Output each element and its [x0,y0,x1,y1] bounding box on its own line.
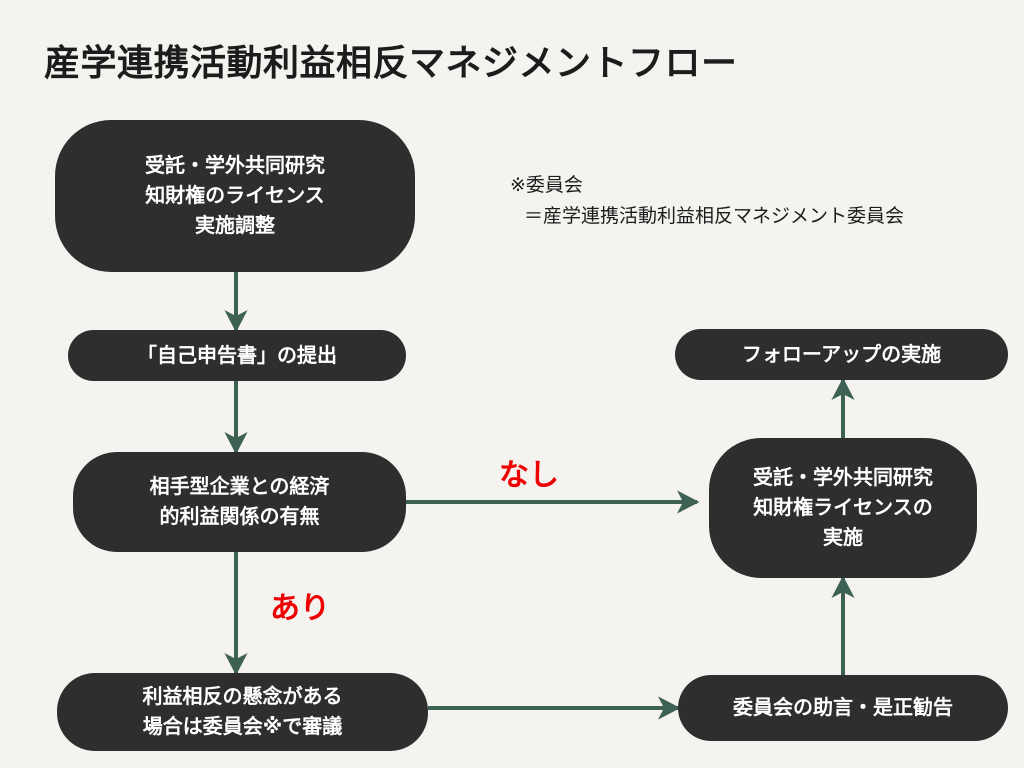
node-implement-line-3: 実施 [753,523,933,553]
arrow-layer [0,0,1024,768]
node-intake[interactable]: 受託・学外共同研究 知財権のライセンス 実施調整 [55,120,415,272]
node-decision-line-2: 的利益関係の有無 [150,502,330,532]
page-title: 産学連携活動利益相反マネジメントフロー [44,34,738,86]
node-self-report[interactable]: 「自己申告書」の提出 [68,330,406,381]
node-followup-line-1: フォローアップの実施 [742,340,941,370]
committee-note-line-2: ＝産学連携活動利益相反マネジメント委員会 [510,201,904,232]
node-intake-line-3: 実施調整 [145,211,325,241]
node-decision[interactable]: 相手型企業との経済 的利益関係の有無 [73,452,406,552]
node-implement-line-2: 知財権ライセンスの [753,493,933,523]
node-followup[interactable]: フォローアップの実施 [675,329,1008,380]
edge-label-yes: あり [270,583,330,627]
edge-label-no: なし [499,450,559,494]
node-advice-line-1: 委員会の助言・是正勧告 [733,693,953,723]
node-review[interactable]: 利益相反の懸念がある 場合は委員会※で審議 [57,673,428,751]
node-review-line-1: 利益相反の懸念がある [143,682,343,712]
committee-note: ※委員会 ＝産学連携活動利益相反マネジメント委員会 [510,170,904,233]
node-self-report-line-1: 「自己申告書」の提出 [137,341,337,371]
node-review-line-2: 場合は委員会※で審議 [143,712,343,742]
node-implement[interactable]: 受託・学外共同研究 知財権ライセンスの 実施 [709,438,977,578]
node-decision-line-1: 相手型企業との経済 [150,472,330,502]
node-intake-line-2: 知財権のライセンス [145,181,325,211]
node-intake-line-1: 受託・学外共同研究 [145,151,325,181]
committee-note-line-1: ※委員会 [510,170,904,201]
flowchart-canvas: 産学連携活動利益相反マネジメントフロー 受託・学外共同研究 知財権のライセンス … [0,0,1024,768]
node-advice[interactable]: 委員会の助言・是正勧告 [678,675,1008,741]
node-implement-line-1: 受託・学外共同研究 [753,463,933,493]
